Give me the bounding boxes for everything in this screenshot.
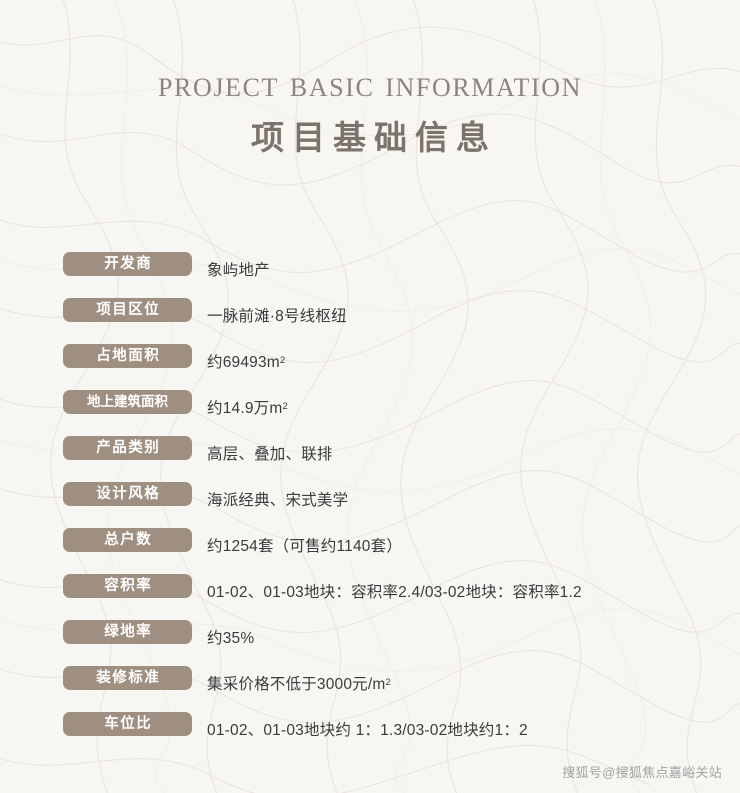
- row-label-pill: 开发商: [63, 252, 192, 276]
- table-row: 开发商象屿地产: [0, 246, 740, 292]
- row-label-text: 总户数: [103, 533, 153, 548]
- row-value-text: 象屿地产: [207, 246, 270, 292]
- table-row: 装修标准集采价格不低于3000元/m2: [0, 660, 740, 706]
- row-label-text: 项目区位: [95, 303, 161, 318]
- row-label-pill: 项目区位: [63, 298, 192, 322]
- row-value-text: 海派经典、宋式美学: [207, 476, 348, 522]
- row-label-text: 装修标准: [95, 671, 161, 686]
- row-value-text: 集采价格不低于3000元/m2: [207, 660, 391, 706]
- row-label-text: 容积率: [103, 579, 153, 594]
- row-label-pill: 车位比: [63, 712, 192, 736]
- row-value-text: 01-02、01-03地块：容积率2.4/03-02地块：容积率1.2: [207, 568, 582, 614]
- table-row: 项目区位一脉前滩·8号线枢纽: [0, 292, 740, 338]
- row-value-text: 一脉前滩·8号线枢纽: [207, 292, 347, 338]
- row-label-pill: 容积率: [63, 574, 192, 598]
- row-label-pill: 总户数: [63, 528, 192, 552]
- table-row: 地上建筑面积约14.9万m2: [0, 384, 740, 430]
- row-label-text: 开发商: [103, 257, 153, 272]
- row-label-text: 车位比: [103, 717, 153, 732]
- row-label-pill: 设计风格: [63, 482, 192, 506]
- row-value-text: 高层、叠加、联排: [207, 430, 333, 476]
- table-row: 总户数约1254套（可售约1140套）: [0, 522, 740, 568]
- project-info-table: 开发商象屿地产项目区位一脉前滩·8号线枢纽占地面积约69493m2地上建筑面积约…: [0, 246, 740, 752]
- page-title-english: Project Basic Information: [0, 66, 740, 103]
- row-value-text: 约35%: [207, 614, 254, 660]
- row-value-text: 约1254套（可售约1140套）: [207, 522, 402, 568]
- row-label-pill: 产品类别: [63, 436, 192, 460]
- row-label-text: 占地面积: [95, 349, 161, 364]
- row-value-text: 01-02、01-03地块约 1：1.3/03-02地块约1：2: [207, 706, 528, 752]
- row-label-text: 绿地率: [103, 625, 153, 640]
- row-value-text: 约14.9万m2: [207, 384, 288, 430]
- row-value-text: 约69493m2: [207, 338, 285, 384]
- table-row: 产品类别高层、叠加、联排: [0, 430, 740, 476]
- watermark-text: 搜狐号@搜狐焦点嘉峪关站: [562, 762, 722, 781]
- table-row: 占地面积约69493m2: [0, 338, 740, 384]
- table-row: 绿地率约35%: [0, 614, 740, 660]
- row-label-pill: 地上建筑面积: [63, 390, 192, 414]
- page-header: Project Basic Information 项目基础信息: [0, 0, 740, 160]
- row-label-text: 地上建筑面积: [87, 395, 168, 409]
- row-label-text: 产品类别: [95, 441, 161, 456]
- table-row: 设计风格海派经典、宋式美学: [0, 476, 740, 522]
- row-label-pill: 装修标准: [63, 666, 192, 690]
- page-title-chinese: 项目基础信息: [0, 120, 740, 160]
- row-label-pill: 占地面积: [63, 344, 192, 368]
- row-label-pill: 绿地率: [63, 620, 192, 644]
- row-label-text: 设计风格: [95, 487, 161, 502]
- table-row: 车位比01-02、01-03地块约 1：1.3/03-02地块约1：2: [0, 706, 740, 752]
- table-row: 容积率01-02、01-03地块：容积率2.4/03-02地块：容积率1.2: [0, 568, 740, 614]
